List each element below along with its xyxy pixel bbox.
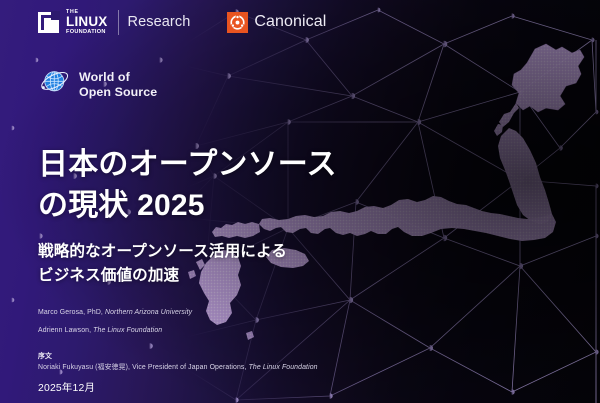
author-list: Marco Gerosa, PhD, Northern Arizona Univ… bbox=[38, 310, 192, 335]
subtitle-line-1: 戦略的なオープンソース活用による bbox=[38, 240, 368, 264]
foreword-author: Noriaki Fukuyasu (福安徳晃), Vice President … bbox=[38, 363, 318, 374]
page-title: 日本のオープンソース の現状 2025 bbox=[38, 144, 368, 226]
lf-linux-text: LINUX bbox=[66, 16, 108, 29]
foreword-author-name: Noriaki Fukuyasu (福安徳晃), Vice President … bbox=[38, 364, 249, 371]
linux-foundation-logo: THE LINUX FOUNDATION bbox=[38, 9, 108, 36]
wos-line-2: Open Source bbox=[79, 85, 157, 99]
world-of-open-source-lockup: World of Open Source bbox=[38, 65, 157, 104]
foreword-block: 序文 Noriaki Fukuyasu (福安徳晃), Vice Preside… bbox=[38, 352, 318, 373]
world-of-open-source-wordmark: World of Open Source bbox=[79, 70, 157, 99]
lf-foundation-text: FOUNDATION bbox=[66, 30, 108, 36]
title-line-2: の現状 2025 bbox=[38, 185, 368, 226]
foreword-label: 序文 bbox=[38, 352, 318, 363]
globe-orbit-icon bbox=[38, 65, 72, 104]
logo-divider bbox=[118, 10, 119, 35]
linux-foundation-square-icon bbox=[38, 12, 59, 33]
author-name: Adrienn Lawson, bbox=[38, 327, 93, 334]
foreword-author-affiliation: The Linux Foundation bbox=[249, 364, 318, 371]
canonical-logo: Canonical bbox=[227, 12, 326, 33]
canonical-label: Canonical bbox=[254, 13, 326, 31]
canonical-circle-of-friends-icon bbox=[227, 12, 248, 33]
header-logo-bar: THE LINUX FOUNDATION Research Canonical bbox=[38, 9, 326, 36]
title-line-1: 日本のオープンソース bbox=[38, 144, 368, 185]
page-subtitle: 戦略的なオープンソース活用による ビジネス価値の加速 bbox=[38, 240, 368, 288]
author-affiliation: The Linux Foundation bbox=[93, 327, 162, 334]
publication-date: 2025年12月 bbox=[38, 379, 95, 394]
wos-line-1: World of bbox=[79, 70, 157, 84]
author-row: Marco Gerosa, PhD, Northern Arizona Univ… bbox=[38, 310, 192, 317]
author-row: Adrienn Lawson, The Linux Foundation bbox=[38, 328, 192, 335]
subtitle-line-2: ビジネス価値の加速 bbox=[38, 264, 368, 288]
author-name: Marco Gerosa, PhD, bbox=[38, 309, 105, 316]
linux-foundation-wordmark: THE LINUX FOUNDATION bbox=[66, 9, 108, 36]
report-cover: THE LINUX FOUNDATION Research Canonical bbox=[0, 0, 600, 403]
research-label: Research bbox=[128, 14, 191, 30]
author-affiliation: Northern Arizona University bbox=[105, 309, 192, 316]
